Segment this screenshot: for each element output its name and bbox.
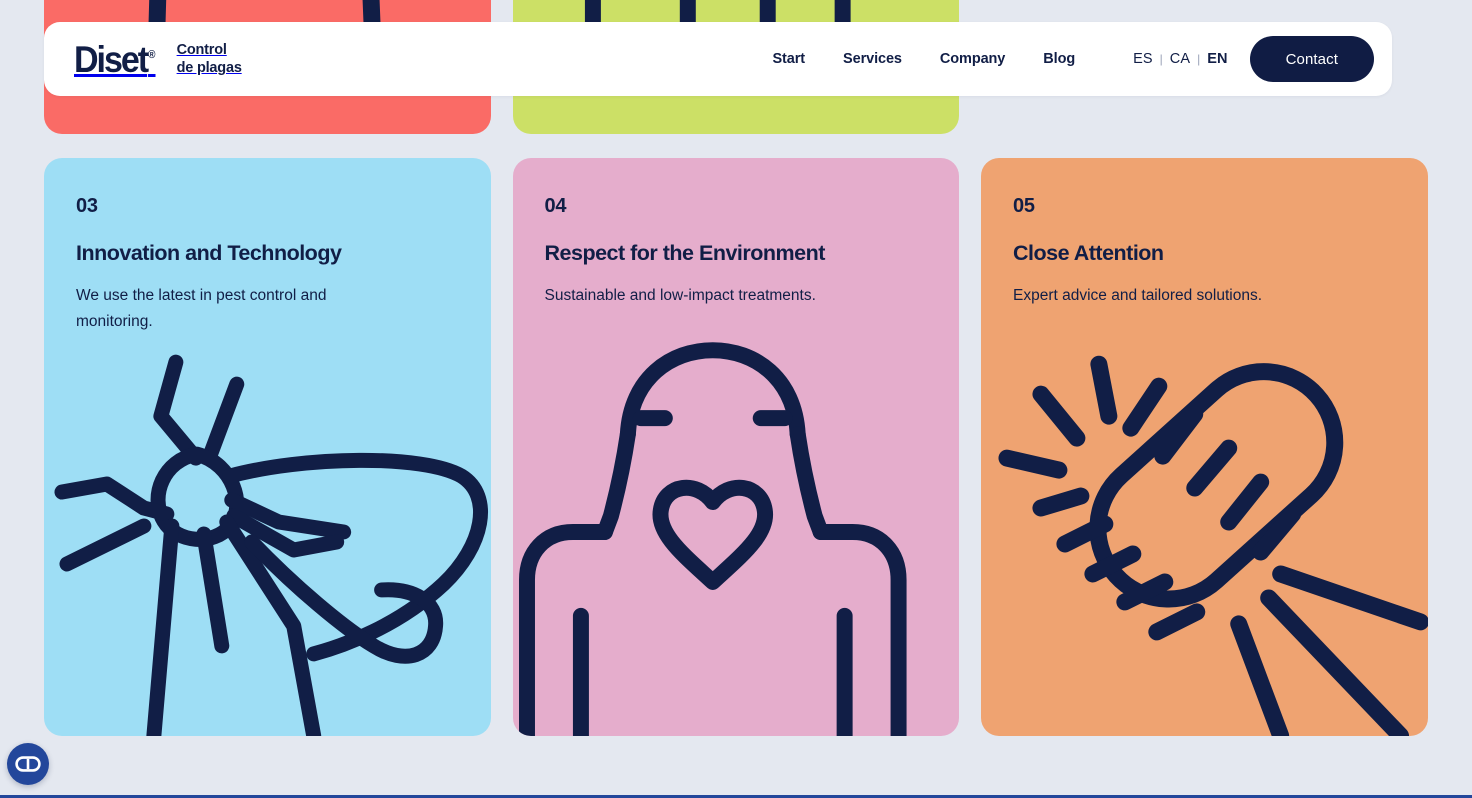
nav-item-blog[interactable]: Blog (1043, 51, 1075, 67)
accessibility-link-icon (15, 756, 41, 772)
feature-card-03-body: 03 Innovation and Technology We use the … (44, 158, 491, 336)
feature-card-04[interactable]: 04 Respect for the Environment Sustainab… (513, 158, 960, 736)
page-canvas: 03 Innovation and Technology We use the … (0, 0, 1472, 798)
language-option-en[interactable]: EN (1207, 51, 1227, 67)
feature-card-03-title: Innovation and Technology (76, 241, 459, 266)
brand-tagline-line1: Control (177, 42, 227, 58)
feature-card-05-body: 05 Close Attention Expert advice and tai… (981, 158, 1428, 309)
site-header: Diset® Control de plagas Start Services … (44, 22, 1392, 96)
main-navigation: Start Services Company Blog (772, 51, 1075, 67)
feature-card-03-number: 03 (76, 196, 459, 216)
registered-mark-icon: ® (148, 49, 155, 61)
language-switcher: ES | CA | EN (1133, 51, 1227, 67)
feature-card-04-number: 04 (545, 196, 928, 216)
feature-card-05-title: Close Attention (1013, 241, 1396, 266)
brand-logo[interactable]: Diset® Control de plagas (74, 41, 242, 78)
feature-card-04-title: Respect for the Environment (545, 241, 928, 266)
feature-card-04-body: 04 Respect for the Environment Sustainab… (513, 158, 960, 309)
mosquito-icon (44, 336, 491, 736)
brand-tagline-line2: de plagas (177, 60, 242, 76)
feature-card-04-description: Sustainable and low-impact treatments. (545, 283, 855, 310)
brand-wordmark: Diset® (74, 41, 156, 78)
feature-card-05-number: 05 (1013, 196, 1396, 216)
feature-card-05-description: Expert advice and tailored solutions. (1013, 283, 1323, 310)
language-separator-1: | (1160, 52, 1163, 66)
cards-row-main: 03 Innovation and Technology We use the … (44, 158, 1428, 736)
nav-item-start[interactable]: Start (772, 51, 805, 67)
language-option-ca[interactable]: CA (1170, 51, 1190, 67)
nav-item-services[interactable]: Services (843, 51, 902, 67)
contact-button[interactable]: Contact (1250, 36, 1374, 82)
person-heart-icon (513, 336, 960, 736)
language-option-es[interactable]: ES (1133, 51, 1153, 67)
language-separator-2: | (1197, 52, 1200, 66)
feature-card-05[interactable]: 05 Close Attention Expert advice and tai… (981, 158, 1428, 736)
nav-item-company[interactable]: Company (940, 51, 1005, 67)
feature-card-03-description: We use the latest in pest control and mo… (76, 283, 386, 336)
accessibility-widget-button[interactable] (7, 743, 49, 785)
brand-name: Diset (74, 39, 147, 80)
feature-card-03[interactable]: 03 Innovation and Technology We use the … (44, 158, 491, 736)
larva-icon (981, 336, 1428, 736)
brand-tagline: Control de plagas (177, 41, 242, 77)
